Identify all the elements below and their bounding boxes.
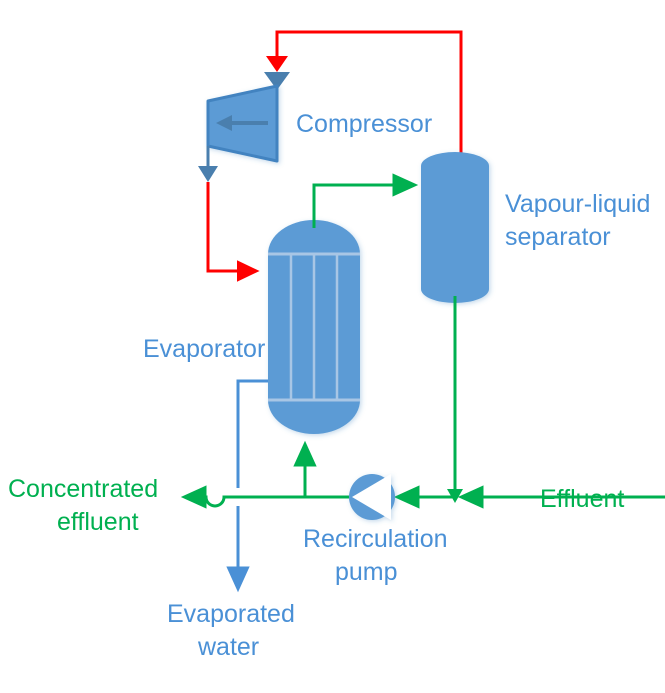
concentrated-effluent-label-line1: Concentrated (8, 475, 158, 503)
separator-label-line2: separator (505, 223, 611, 251)
blue-arrowhead-compressor-outlet (198, 166, 218, 182)
pump-icon (349, 474, 395, 520)
separator-icon (421, 152, 489, 303)
blue-line-condensate-upper (238, 381, 268, 488)
compressor-outlet-blue-stub (198, 146, 218, 182)
concentrated-effluent-label-line2: effluent (57, 508, 139, 536)
evaporated-water-label-line2: water (197, 633, 259, 661)
process-flow-diagram: Compressor Evaporator Vapour-liquid sepa… (0, 0, 665, 693)
stream-evaporated-water (238, 381, 268, 588)
effluent-label: Effluent (540, 485, 624, 513)
stream-concentrated-effluent (185, 497, 240, 506)
green-line-concentrated-effluent (185, 497, 240, 506)
pump-label-line1: Recirculation (303, 525, 448, 553)
separator-label-line1: Vapour-liquid (505, 190, 650, 218)
pfd-canvas: Compressor Evaporator Vapour-liquid sepa… (0, 0, 665, 693)
evaporator-label: Evaporator (143, 335, 265, 363)
red-arrowhead-compressor-inlet (266, 56, 288, 72)
evaporated-water-label-line1: Evaporated (167, 600, 295, 628)
stream-vapour-to-separator (314, 185, 414, 228)
compressor-label: Compressor (296, 110, 432, 138)
green-line-evaporator-to-separator (314, 185, 414, 228)
pump-label-line2: pump (335, 558, 398, 586)
stream-compressed-vapour-to-evaporator (208, 182, 256, 271)
stream-separator-liquid-recycle (447, 296, 463, 503)
separator-body (421, 152, 489, 303)
red-line-to-evaporator (208, 182, 256, 271)
